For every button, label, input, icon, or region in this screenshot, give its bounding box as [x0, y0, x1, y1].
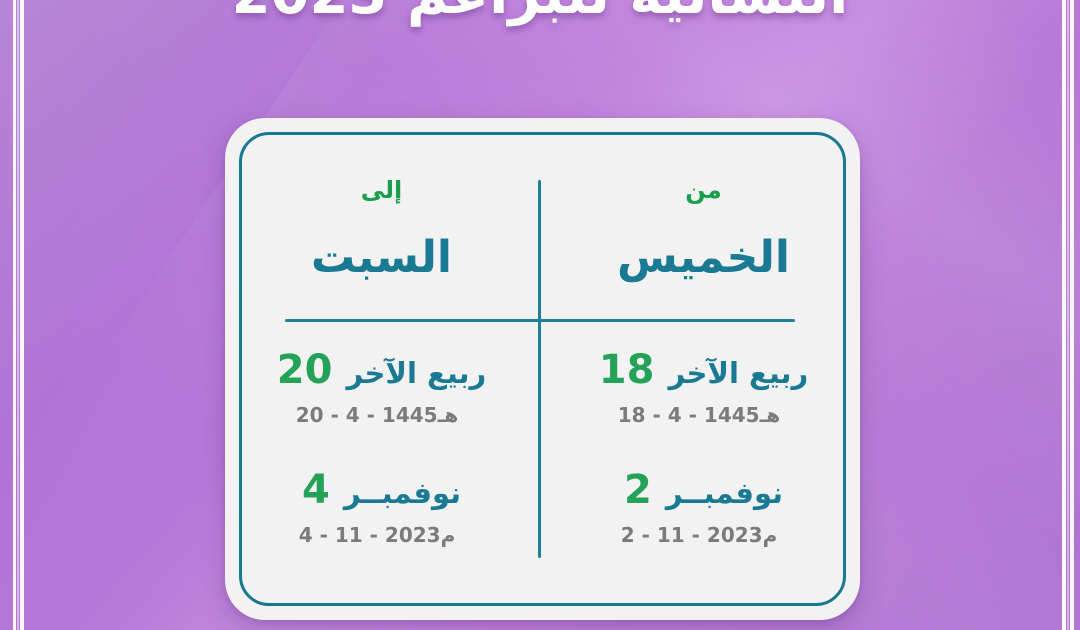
column-from: من الخميس ربيع الآخر 18 هـ18 - 4 - 1445 …: [547, 118, 860, 620]
right-edge-stripe-decoration: [1062, 0, 1074, 630]
page-title: النسائية للبراعم 2023: [0, 0, 1080, 23]
date-range-card: من الخميس ربيع الآخر 18 هـ18 - 4 - 1445 …: [225, 118, 860, 620]
date-range-grid: من الخميس ربيع الآخر 18 هـ18 - 4 - 1445 …: [225, 118, 860, 620]
from-hijri-month: ربيع الآخر: [668, 359, 808, 388]
to-day-name: السبت: [225, 236, 538, 280]
to-gregorian-date: نوفمبــر 4 م4 - 11 - 2023: [225, 470, 538, 545]
column-to: إلى السبت ربيع الآخر 20 هـ20 - 4 - 1445 …: [225, 118, 538, 620]
from-hijri-date: ربيع الآخر 18 هـ18 - 4 - 1445: [547, 350, 860, 425]
to-label: إلى: [225, 178, 538, 202]
from-hijri-numeric: 18 - 4 - 1445: [618, 405, 760, 425]
to-gregorian-numeric-row: م4 - 11 - 2023: [225, 525, 538, 545]
to-hijri-era: هـ: [438, 405, 459, 425]
from-gregorian-date: نوفمبــر 2 م2 - 11 - 2023: [547, 470, 860, 545]
left-edge-stripe-decoration: [13, 0, 24, 630]
from-hijri-day: 18: [599, 350, 655, 390]
to-gregorian-numeric: 4 - 11 - 2023: [299, 525, 441, 545]
to-hijri-date: ربيع الآخر 20 هـ20 - 4 - 1445: [225, 350, 538, 425]
to-gregorian-day: 4: [302, 470, 330, 510]
to-hijri-month: ربيع الآخر: [346, 359, 486, 388]
poster-canvas: النسائية للبراعم 2023 من الخميس ربيع الآ…: [0, 0, 1080, 630]
from-hijri-numeric-row: هـ18 - 4 - 1445: [547, 405, 860, 425]
to-gregorian-era: م: [441, 525, 456, 545]
from-gregorian-numeric: 2 - 11 - 2023: [621, 525, 763, 545]
from-gregorian-day: 2: [624, 470, 652, 510]
to-hijri-numeric: 20 - 4 - 1445: [296, 405, 438, 425]
to-hijri-day: 20: [277, 350, 333, 390]
vertical-divider: [538, 180, 541, 558]
from-gregorian-numeric-row: م2 - 11 - 2023: [547, 525, 860, 545]
to-hijri-numeric-row: هـ20 - 4 - 1445: [225, 405, 538, 425]
to-gregorian-month: نوفمبــر: [344, 479, 461, 508]
from-gregorian-month: نوفمبــر: [666, 479, 783, 508]
from-label: من: [547, 178, 860, 202]
from-day-name: الخميس: [547, 236, 860, 280]
from-hijri-era: هـ: [760, 405, 781, 425]
from-gregorian-era: م: [763, 525, 778, 545]
